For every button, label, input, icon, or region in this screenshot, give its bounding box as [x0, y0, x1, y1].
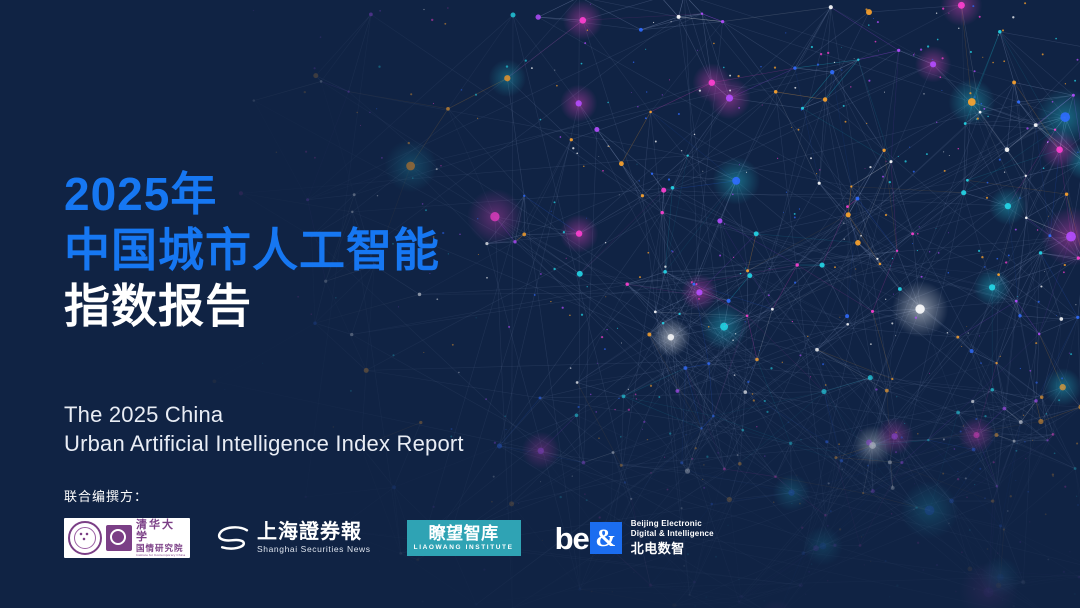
report-cover-slide: 2025年 中国城市人工智能 指数报告 The 2025 China Urban… [0, 0, 1080, 608]
beidi-ampersand-box: & [590, 522, 622, 554]
partners-label: 联合编撰方： [64, 486, 714, 505]
beidi-en-line-2: Digital & Intelligence [631, 529, 714, 539]
subtitle-line-1: The 2025 China [64, 400, 464, 429]
beidi-wordmark-icon: be & [555, 522, 622, 554]
partners-section: 联合编撰方： 清华大学 国情研究院 Institute for Contempo… [64, 486, 714, 561]
title-line-2: 中国城市人工智能 [64, 222, 440, 278]
beidi-ampersand: & [595, 526, 616, 551]
subtitle-line-2: Urban Artificial Intelligence Index Repo… [64, 429, 464, 458]
beidi-en-line-1: Beijing Electronic [631, 519, 714, 529]
tsinghua-cn-secondary: 国情研究院 [136, 543, 186, 553]
liaowang-cn-primary: 瞭望智库 [429, 525, 499, 543]
page-title: 2025年 中国城市人工智能 指数报告 [64, 166, 440, 334]
liaowang-en: LIAOWANG INSTITUTE [414, 543, 514, 552]
logo-liaowang-institute: 瞭望智库 LIAOWANG INSTITUTE [407, 520, 521, 556]
ssn-swirl-icon [216, 524, 250, 552]
beidi-cn-primary: 北电数智 [631, 540, 714, 557]
logo-beijing-electronic-digital-intelligence: be & Beijing Electronic Digital & Intell… [555, 519, 714, 557]
partner-logo-row: 清华大学 国情研究院 Institute for Contemporary Ch… [64, 515, 714, 561]
page-subtitle: The 2025 China Urban Artificial Intellig… [64, 400, 464, 458]
ssn-cn-primary: 上海證券報 [257, 522, 371, 543]
ssn-en: Shanghai Securities News [257, 543, 371, 555]
tsinghua-spiral-icon [106, 525, 132, 551]
tsinghua-cn-primary: 清华大学 [136, 519, 186, 543]
title-line-3: 指数报告 [64, 278, 440, 334]
title-line-1: 2025年 [64, 166, 440, 222]
beidi-wordmark: be [555, 523, 589, 554]
logo-tsinghua-institute: 清华大学 国情研究院 Institute for Contemporary Ch… [64, 518, 190, 558]
tsinghua-seal-icon [68, 521, 102, 555]
logo-shanghai-securities-news: 上海證券報 Shanghai Securities News [216, 522, 371, 555]
tsinghua-en: Institute for Contemporary China Studies… [136, 553, 186, 558]
